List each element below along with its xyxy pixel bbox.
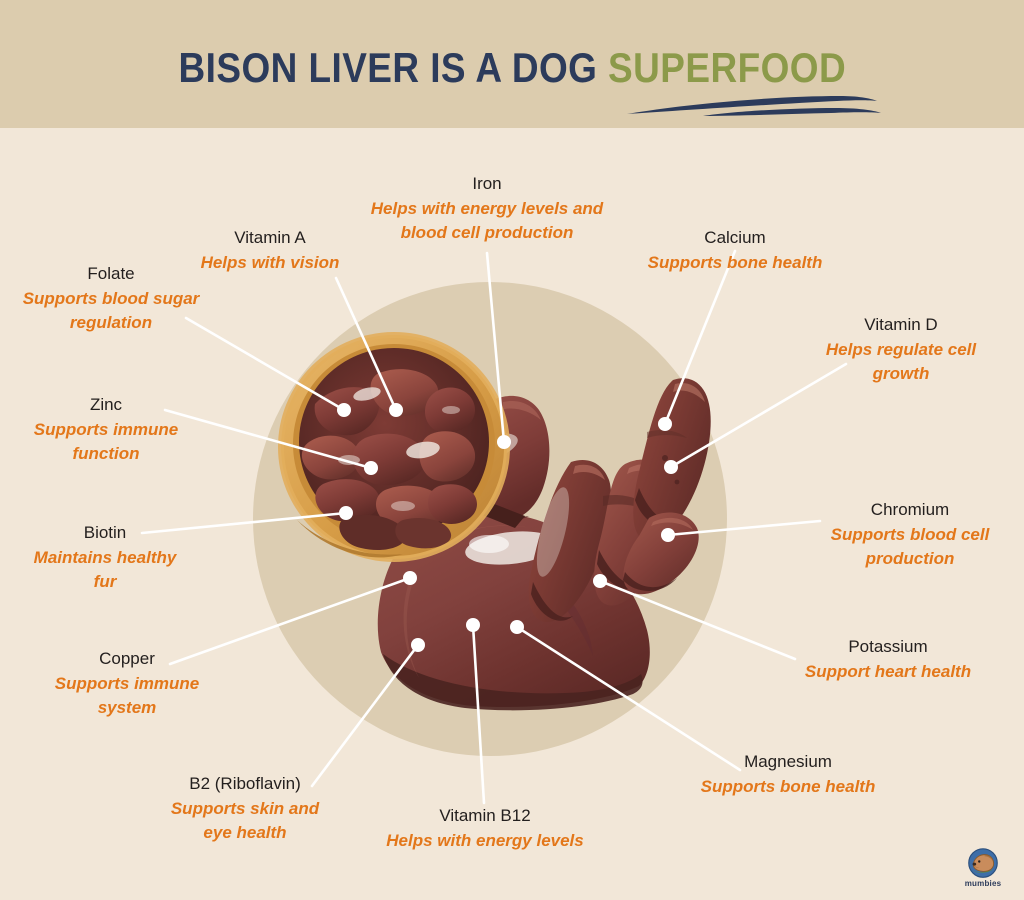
infographic-canvas: BISON LIVER IS A DOG SUPERFOOD: [0, 0, 1024, 900]
nutrient-name: Iron: [357, 172, 617, 197]
nutrient-description: Helps regulate cell growth: [796, 338, 1006, 387]
nutrient-description: Support heart health: [788, 660, 988, 685]
nutrient-description: Supports bone health: [625, 251, 845, 276]
nutrient-description: Supports bone health: [688, 775, 888, 800]
leader-dots: [337, 403, 678, 652]
nutrient-description: Helps with energy levels: [375, 829, 595, 854]
label-vitamin-d[interactable]: Vitamin D Helps regulate cell growth: [796, 313, 1006, 387]
label-iron[interactable]: Iron Helps with energy levels and blood …: [357, 172, 617, 246]
label-chromium[interactable]: Chromium Supports blood cell production: [812, 498, 1008, 572]
nutrient-name: Copper: [34, 647, 220, 672]
nutrient-name: Zinc: [12, 393, 200, 418]
nutrient-description: Supports immune function: [12, 418, 200, 467]
label-calcium[interactable]: Calcium Supports bone health: [625, 226, 845, 275]
nutrient-name: B2 (Riboflavin): [155, 772, 335, 797]
label-potassium[interactable]: Potassium Support heart health: [788, 635, 988, 684]
nutrient-name: Chromium: [812, 498, 1008, 523]
nutrient-name: Vitamin D: [796, 313, 1006, 338]
nutrient-name: Potassium: [788, 635, 988, 660]
label-biotin[interactable]: Biotin Maintains healthy fur: [20, 521, 190, 595]
nutrient-description: Supports skin and eye health: [155, 797, 335, 846]
nutrient-name: Biotin: [20, 521, 190, 546]
nutrient-description: Helps with energy levels and blood cell …: [357, 197, 617, 246]
nutrient-name: Vitamin A: [180, 226, 360, 251]
nutrient-name: Calcium: [625, 226, 845, 251]
label-magnesium[interactable]: Magnesium Supports bone health: [688, 750, 888, 799]
nutrient-name: Vitamin B12: [375, 804, 595, 829]
nutrient-description: Supports immune system: [34, 672, 220, 721]
label-vitamin-a[interactable]: Vitamin A Helps with vision: [180, 226, 360, 275]
brand-name: mumbies: [958, 879, 1008, 888]
nutrient-name: Magnesium: [688, 750, 888, 775]
label-zinc[interactable]: Zinc Supports immune function: [12, 393, 200, 467]
label-b2-riboflavin[interactable]: B2 (Riboflavin) Supports skin and eye he…: [155, 772, 335, 846]
nutrient-description: Helps with vision: [180, 251, 360, 276]
nutrient-description: Maintains healthy fur: [20, 546, 190, 595]
brand-logo[interactable]: mumbies: [958, 848, 1008, 892]
label-copper[interactable]: Copper Supports immune system: [34, 647, 220, 721]
nutrient-description: Supports blood sugar regulation: [10, 287, 212, 336]
nutrient-description: Supports blood cell production: [812, 523, 1008, 572]
label-vitamin-b12[interactable]: Vitamin B12 Helps with energy levels: [375, 804, 595, 853]
dog-head-icon: [968, 848, 998, 878]
